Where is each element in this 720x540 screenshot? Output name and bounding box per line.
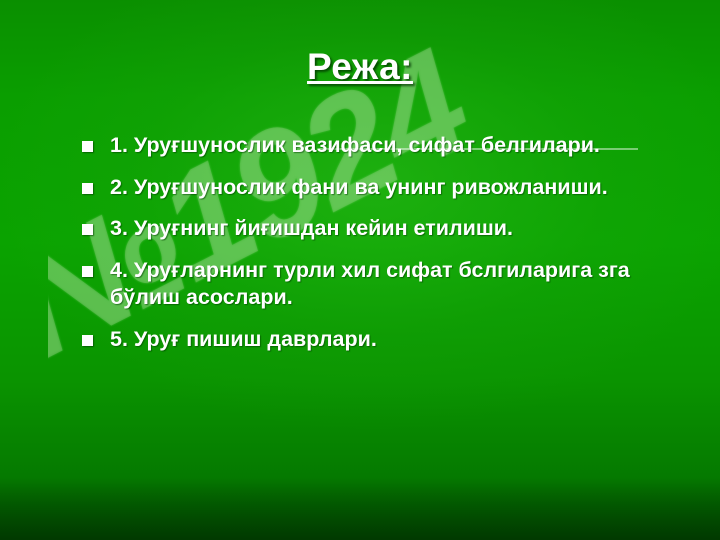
list-item: 2. Уруғшунослик фани ва унинг ривожланиш… xyxy=(82,174,662,202)
list-item-text: 4. Уруғларнинг турли хил сифат бслгилари… xyxy=(110,257,662,312)
list-item: 1. Уруғшунослик вазифаси, сифат белгилар… xyxy=(82,132,662,160)
list-item: 5. Уруғ пишиш даврлари. xyxy=(82,326,662,354)
presentation-slide: №1924 Режа: 1. Уруғшунослик вазифаси, си… xyxy=(0,0,720,540)
square-bullet-icon xyxy=(82,183,93,194)
list-item: 4. Уруғларнинг турли хил сифат бслгилари… xyxy=(82,257,662,312)
bottom-shadow-band xyxy=(0,478,720,540)
square-bullet-icon xyxy=(82,266,93,277)
bullet-list: 1. Уруғшунослик вазифаси, сифат белгилар… xyxy=(82,132,662,367)
list-item-text: 3. Уруғнинг йиғишдан кейин етилиши. xyxy=(110,215,662,243)
list-item-text: 1. Уруғшунослик вазифаси, сифат белгилар… xyxy=(110,132,662,160)
square-bullet-icon xyxy=(82,141,93,152)
list-item: 3. Уруғнинг йиғишдан кейин етилиши. xyxy=(82,215,662,243)
slide-title: Режа: xyxy=(0,46,720,88)
list-item-text: 2. Уруғшунослик фани ва унинг ривожланиш… xyxy=(110,174,662,202)
list-item-text: 5. Уруғ пишиш даврлари. xyxy=(110,326,662,354)
square-bullet-icon xyxy=(82,224,93,235)
square-bullet-icon xyxy=(82,335,93,346)
